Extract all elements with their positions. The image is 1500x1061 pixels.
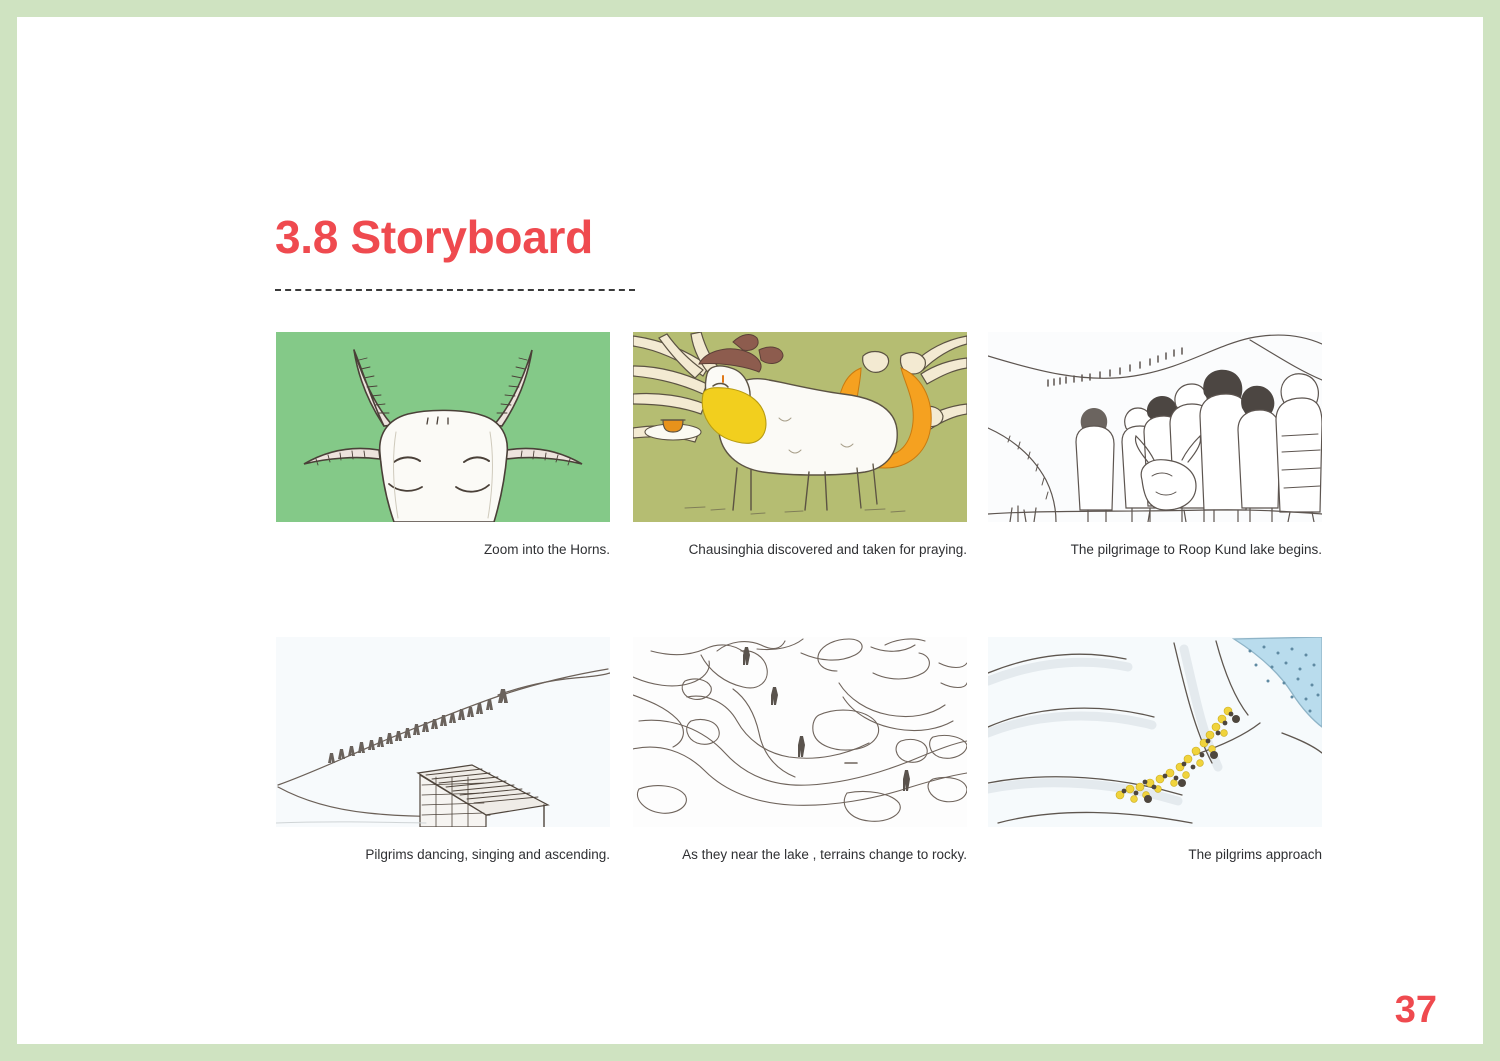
panel-6-caption: The pilgrims approach	[988, 846, 1322, 864]
document-page: 3.8 Storyboard	[0, 0, 1500, 1061]
page-sheet: 3.8 Storyboard	[17, 17, 1483, 1044]
panel-1-caption: Zoom into the Horns.	[276, 541, 610, 559]
storyboard-panel-2: Chausinghia discovered and taken for pra…	[633, 332, 967, 559]
storyboard-panel-5: As they near the lake , terrains change …	[633, 637, 967, 864]
storyboard-panel-3: The pilgrimage to Roop Kund lake begins.	[988, 332, 1322, 559]
storyboard-panel-6: The pilgrims approach	[988, 637, 1322, 864]
title-divider	[275, 289, 635, 291]
storyboard-panel-4: Pilgrims dancing, singing and ascending.	[276, 637, 610, 864]
storyboard-panel-1: Zoom into the Horns.	[276, 332, 610, 559]
page-number: 37	[1395, 989, 1437, 1032]
panel-2-caption: Chausinghia discovered and taken for pra…	[633, 541, 967, 559]
panel-3-caption: The pilgrimage to Roop Kund lake begins.	[988, 541, 1322, 559]
panel-5-illustration	[633, 637, 967, 827]
panel-6-illustration	[988, 637, 1322, 827]
panel-5-caption: As they near the lake , terrains change …	[633, 846, 967, 864]
panel-2-illustration	[633, 332, 967, 522]
panel-1-illustration	[276, 332, 610, 522]
panel-4-illustration	[276, 637, 610, 827]
page-title: 3.8 Storyboard	[275, 210, 593, 264]
panel-3-illustration	[988, 332, 1322, 522]
panel-4-caption: Pilgrims dancing, singing and ascending.	[276, 846, 610, 864]
